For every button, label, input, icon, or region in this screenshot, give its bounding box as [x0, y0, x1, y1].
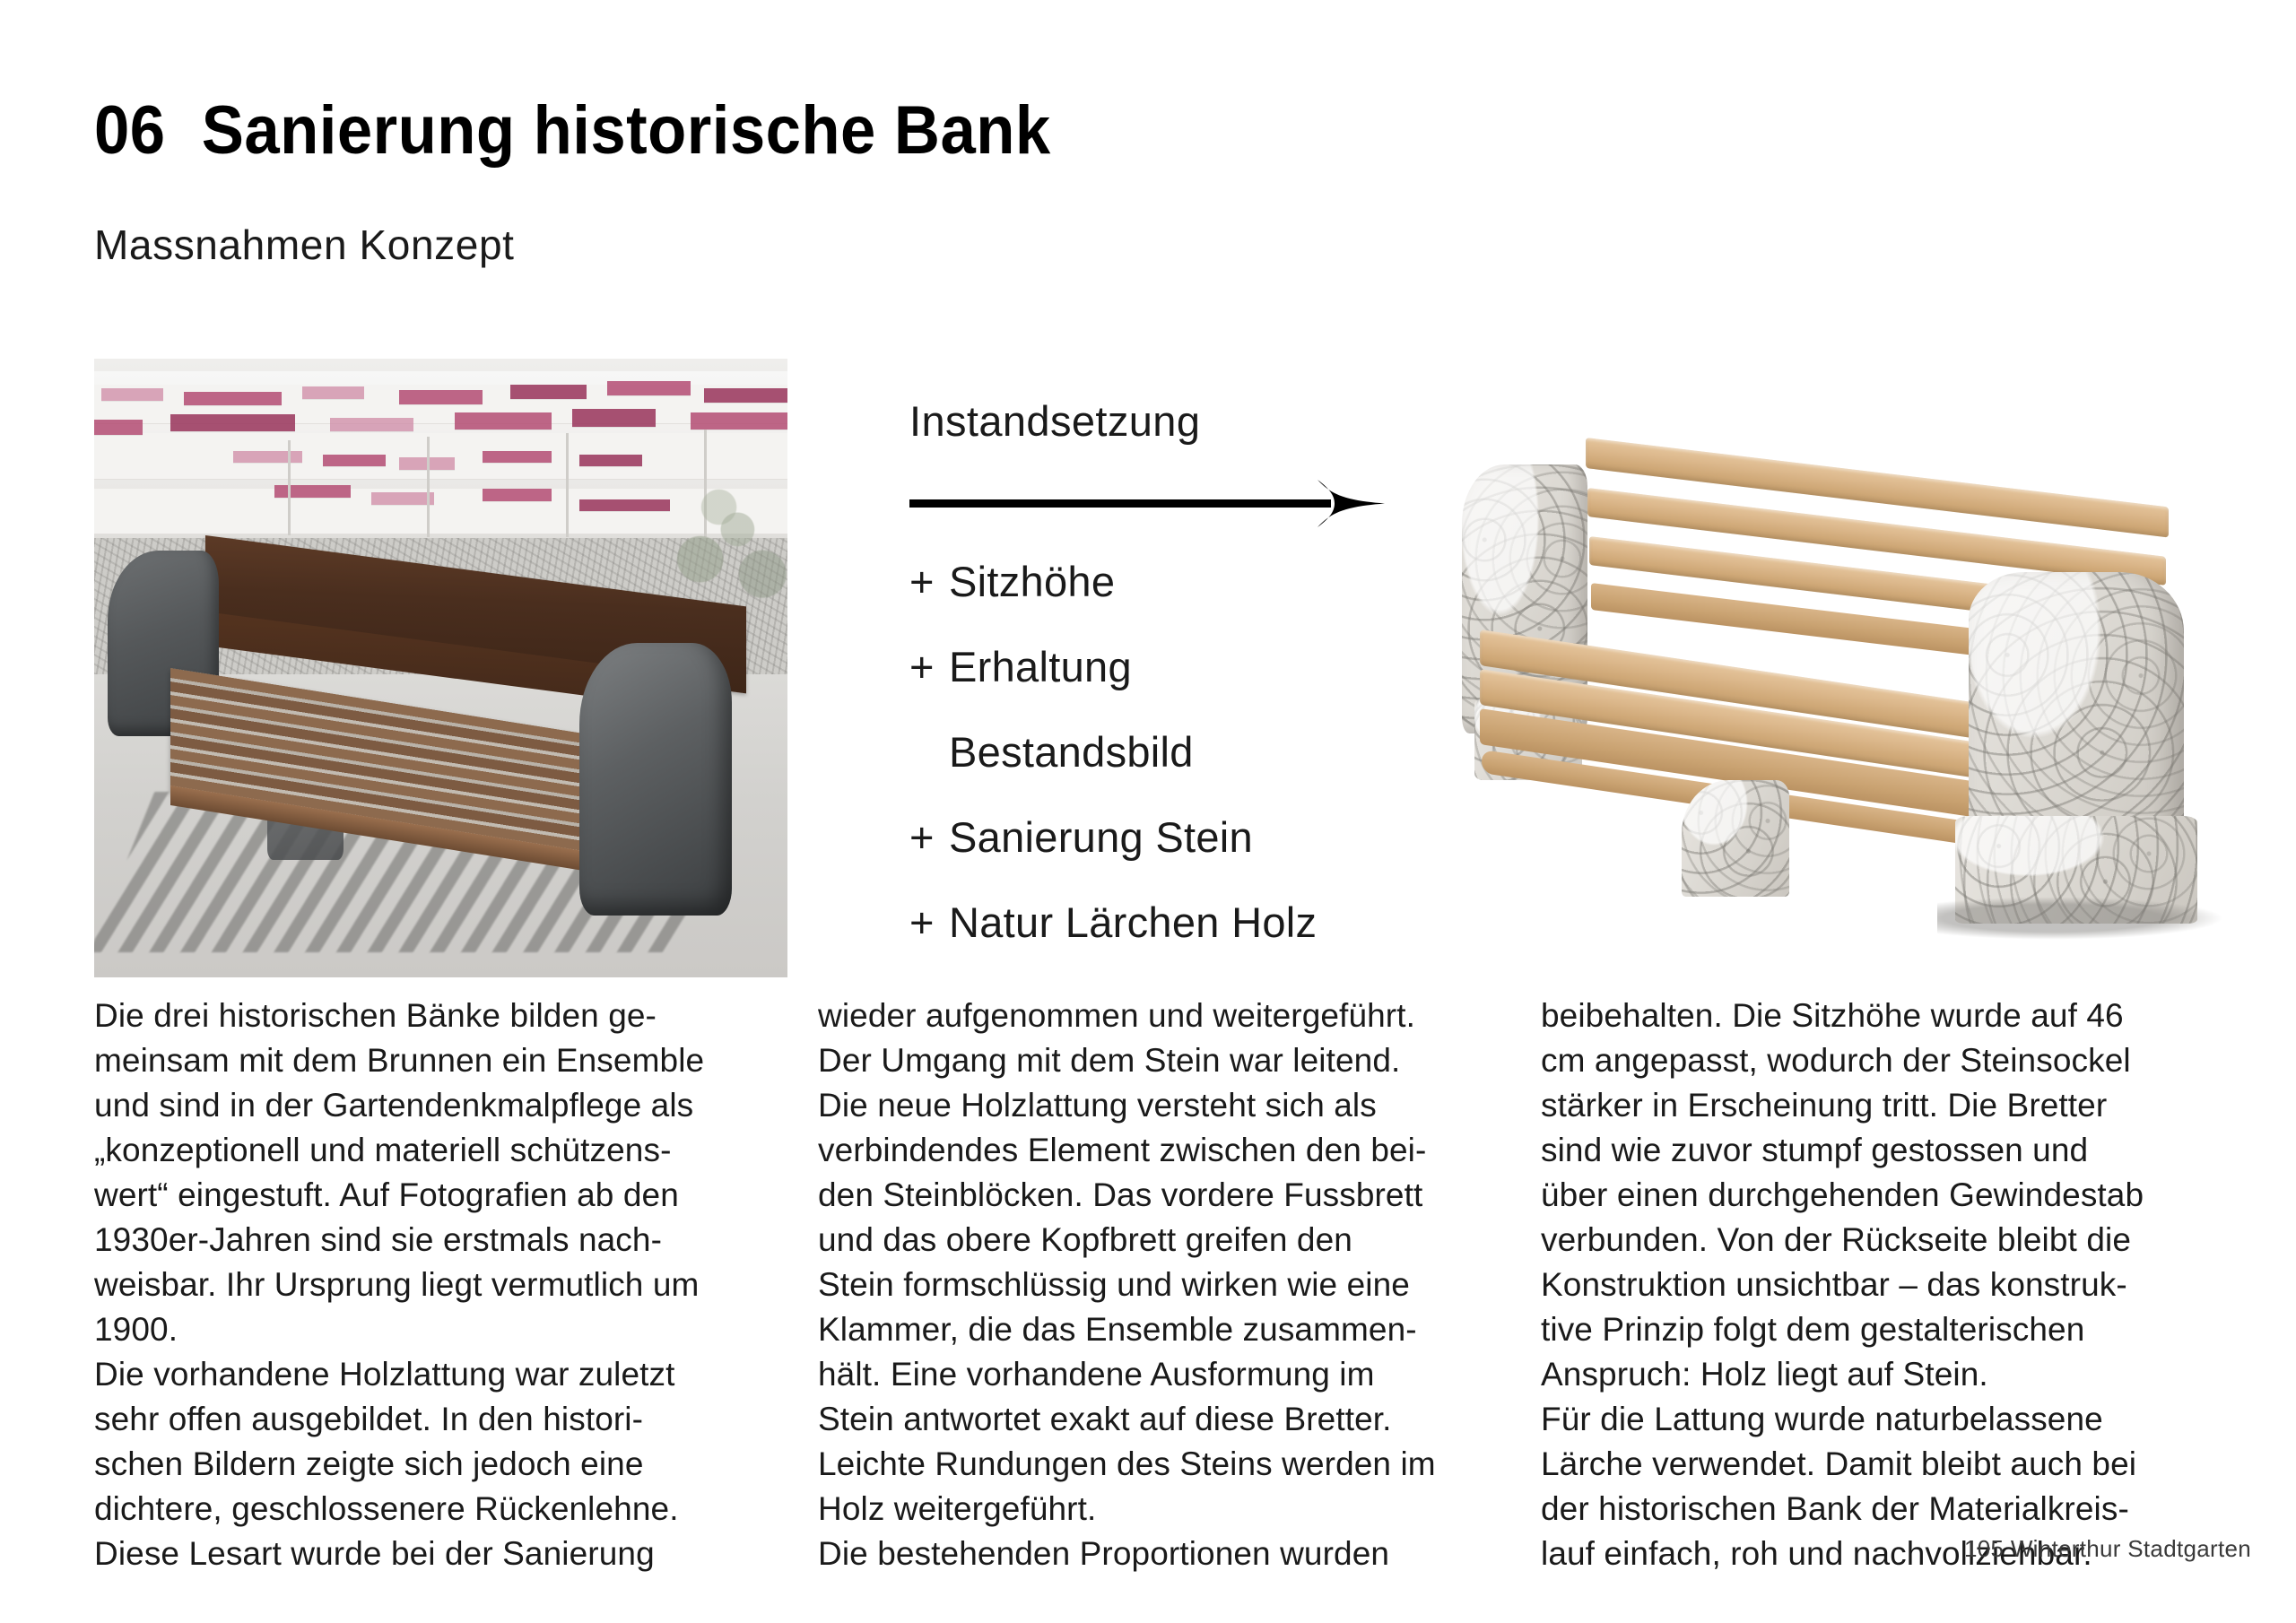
page-subtitle: Massnahmen Konzept: [94, 224, 515, 265]
measures-list: + Sitzhöhe + Erhaltung Bestandsbild + Sa…: [909, 560, 1465, 986]
bullet-label: Bestandsbild: [949, 731, 1194, 773]
list-item: + Natur Lärchen Holz: [909, 901, 1465, 986]
bullet-label: Sitzhöhe: [949, 560, 1115, 603]
list-item: Bestandsbild: [909, 731, 1465, 816]
page-title: 06 Sanierung historische Bank: [94, 97, 1051, 165]
process-label: Instandsetzung: [909, 396, 1200, 446]
bullet-label: Natur Lärchen Holz: [949, 901, 1317, 943]
photo-shrub: [663, 470, 787, 619]
photo-bench-stone-right: [579, 643, 732, 916]
page-footer: 105 Winterthur Stadtgarten: [1964, 1535, 2251, 1563]
bullet-mark: +: [909, 816, 949, 858]
body-text-column-1: Die drei historischen Bänke bilden ge- m…: [94, 994, 776, 1576]
bullet-mark: +: [909, 901, 949, 943]
right-arrow-icon: [909, 473, 1412, 535]
list-item: + Erhaltung: [909, 646, 1465, 731]
render-stone-support-middle: [1682, 780, 1789, 897]
photo-historic-bench-before: [94, 359, 787, 977]
list-item: + Sitzhöhe: [909, 560, 1465, 646]
body-text-column-2: wieder aufgenommen und weitergeführt. De…: [818, 994, 1500, 1576]
render-bench-ground-shadow: [1937, 897, 2224, 940]
list-item: + Sanierung Stein: [909, 816, 1465, 901]
bullet-mark: +: [909, 560, 949, 603]
bullet-mark: +: [909, 646, 949, 688]
render-restored-bench-after: [1453, 395, 2251, 950]
bullet-label: Sanierung Stein: [949, 816, 1253, 858]
body-text-column-3: beibehalten. Die Sitzhöhe wurde auf 46 c…: [1541, 994, 2249, 1576]
bullet-label: Erhaltung: [949, 646, 1132, 688]
